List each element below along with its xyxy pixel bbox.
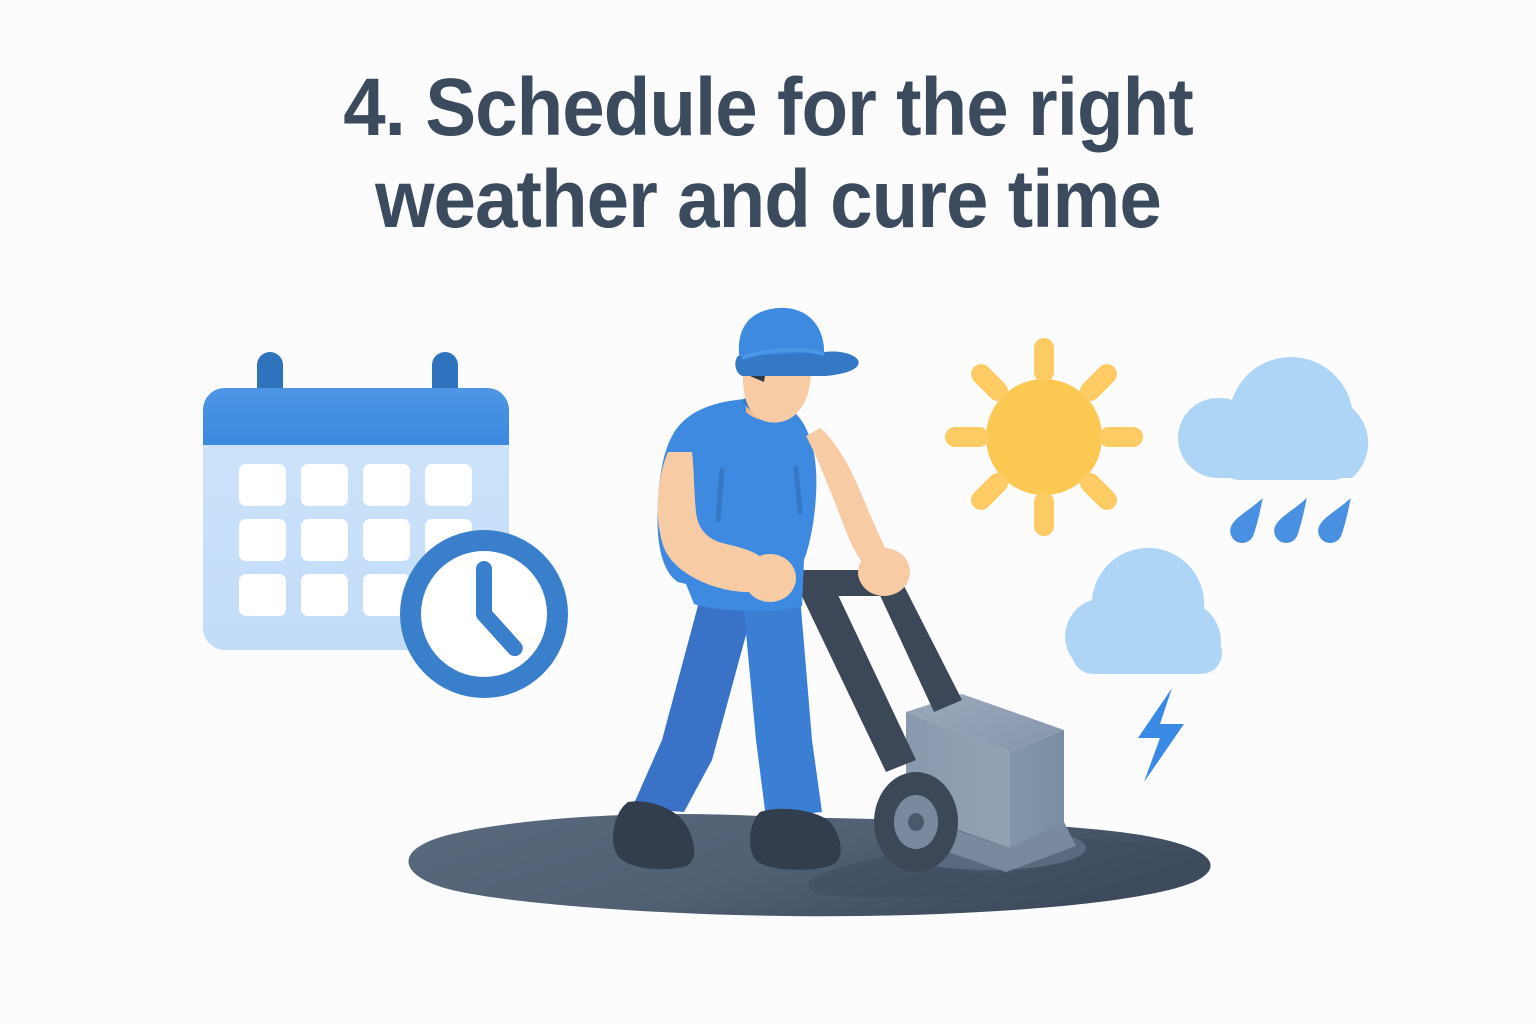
storm-cloud-icon xyxy=(1065,548,1222,782)
calendar-cell xyxy=(363,464,410,506)
calendar-cell xyxy=(301,519,348,561)
sun-icon xyxy=(945,338,1143,536)
rain-cloud-icon xyxy=(1178,357,1368,546)
grinder-wheel-axle xyxy=(908,813,924,831)
calendar-cell xyxy=(363,519,410,561)
worker-head xyxy=(735,308,858,423)
sun-ray xyxy=(945,427,989,447)
calendar-header xyxy=(203,388,509,445)
worker-leg-back xyxy=(632,598,756,812)
rain-drop xyxy=(1315,491,1355,546)
worker-hand-right xyxy=(858,548,910,596)
lightning-bolt-icon xyxy=(1138,688,1184,782)
calendar-cell xyxy=(301,464,348,506)
worker-leg-front xyxy=(742,590,822,818)
calendar-cell xyxy=(425,464,472,506)
calendar-cell xyxy=(239,464,286,506)
illustration-stage xyxy=(0,0,1536,1024)
rain-drop xyxy=(1271,491,1311,546)
calendar-cell xyxy=(301,574,348,616)
rain-drops xyxy=(1227,491,1355,546)
sun-ray xyxy=(1034,338,1054,382)
sun-ray xyxy=(1099,427,1143,447)
illustration-canvas: 4. Schedule for the right weather and cu… xyxy=(0,0,1536,1024)
sun-ray xyxy=(1034,492,1054,536)
calendar-cell xyxy=(239,574,286,616)
calendar-cell xyxy=(239,519,286,561)
worker-hand-left xyxy=(744,554,796,602)
floor-grinder xyxy=(874,694,1086,872)
clock-icon xyxy=(400,530,568,698)
rain-drop xyxy=(1227,491,1267,546)
